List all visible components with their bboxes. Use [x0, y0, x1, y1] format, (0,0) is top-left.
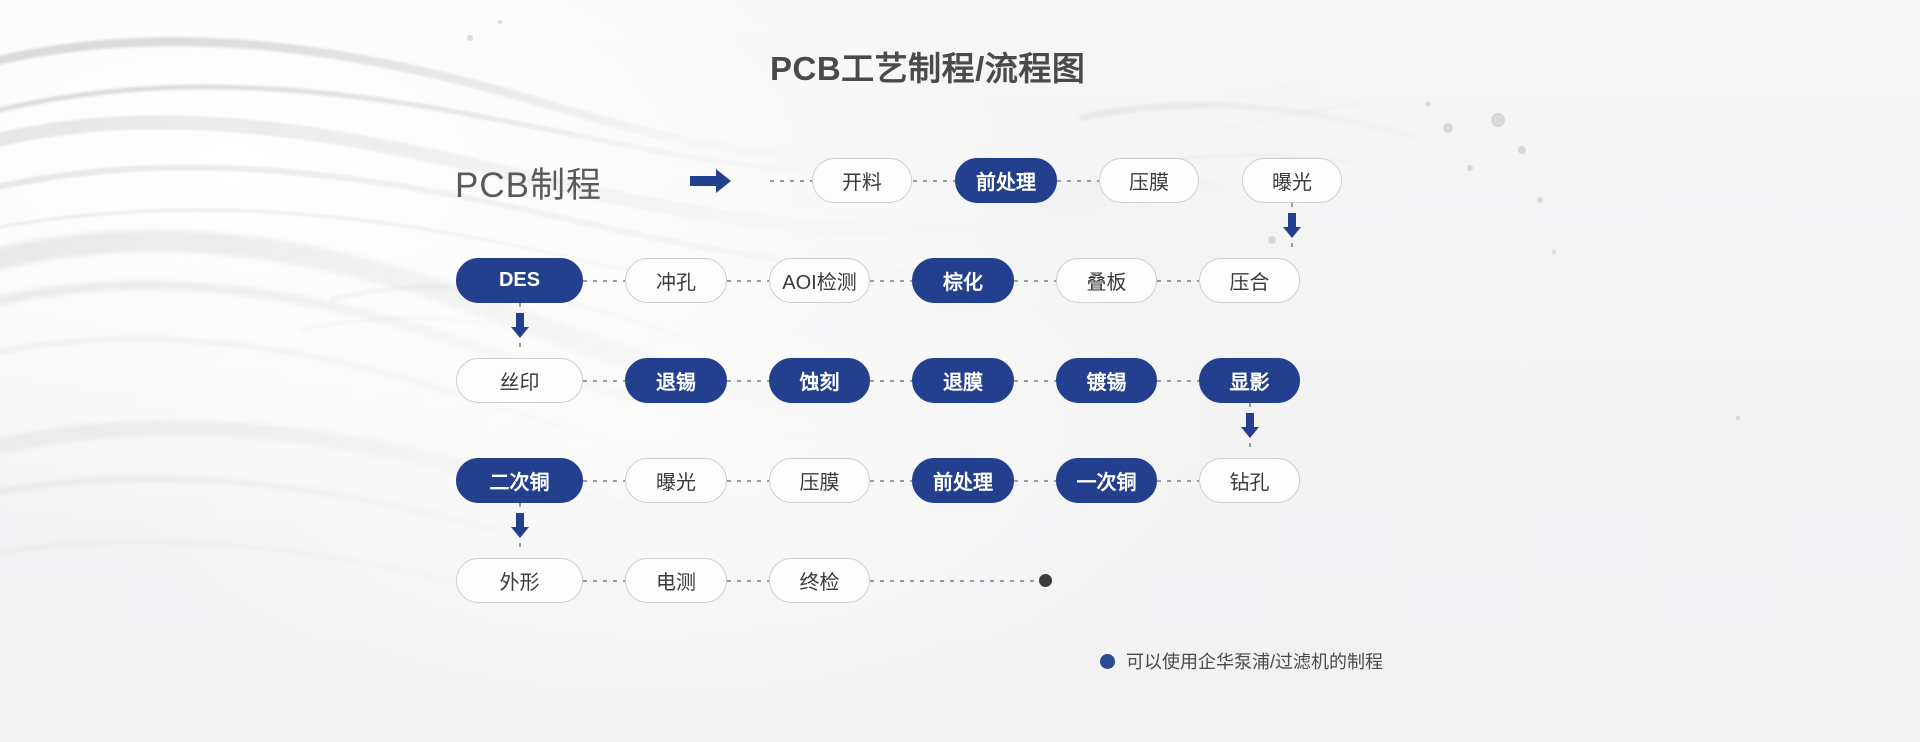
- connector-h: [913, 180, 955, 182]
- connector-h: [727, 480, 769, 482]
- connector-h: [1157, 280, 1199, 282]
- flow-node[interactable]: 叠板: [1056, 258, 1157, 303]
- connector-h: [727, 280, 769, 282]
- arrow-down-icon: [510, 313, 530, 339]
- flow-node[interactable]: 压合: [1199, 258, 1300, 303]
- connector-h: [870, 380, 912, 382]
- connector-h: [727, 380, 769, 382]
- connector-h-terminal: [870, 580, 1040, 582]
- flow-node[interactable]: 曝光: [1242, 158, 1342, 203]
- flow-node[interactable]: 退膜: [912, 358, 1014, 403]
- flow-node[interactable]: 终检: [769, 558, 870, 603]
- connector-h: [1014, 480, 1056, 482]
- connector-h: [770, 180, 812, 182]
- terminal-dot-icon: [1039, 574, 1052, 587]
- flow-node[interactable]: 镀锡: [1056, 358, 1157, 403]
- legend-blue-dot-icon: [1100, 654, 1115, 669]
- flow-node[interactable]: 冲孔: [625, 258, 727, 303]
- arrow-down-icon: [1240, 413, 1260, 439]
- connector-h: [1157, 480, 1199, 482]
- flow-node[interactable]: 压膜: [1099, 158, 1199, 203]
- connector-h: [583, 280, 625, 282]
- flow-node[interactable]: 前处理: [955, 158, 1057, 203]
- flow-node[interactable]: 曝光: [625, 458, 727, 503]
- flow-node[interactable]: 丝印: [456, 358, 583, 403]
- flow-node[interactable]: 钻孔: [1199, 458, 1300, 503]
- flow-node[interactable]: 显影: [1199, 358, 1300, 403]
- flow-node[interactable]: 外形: [456, 558, 583, 603]
- connector-h: [583, 480, 625, 482]
- flow-caption-label: PCB制程: [455, 157, 602, 208]
- connector-h: [1014, 380, 1056, 382]
- legend: 可以使用企华泵浦/过滤机的制程: [1100, 648, 1383, 674]
- flow-node[interactable]: 蚀刻: [769, 358, 870, 403]
- flow-node[interactable]: 开料: [812, 158, 912, 203]
- flow-node[interactable]: 一次铜: [1056, 458, 1157, 503]
- flow-node[interactable]: 退锡: [625, 358, 727, 403]
- flow-node[interactable]: 前处理: [912, 458, 1014, 503]
- flow-node[interactable]: DES: [456, 258, 583, 303]
- flow-node[interactable]: 电测: [625, 558, 727, 603]
- flow-node[interactable]: AOI检测: [769, 258, 870, 303]
- arrow-right-icon: [690, 168, 732, 194]
- connector-h: [583, 380, 625, 382]
- legend-label: 可以使用企华泵浦/过滤机的制程: [1126, 648, 1383, 674]
- connector-h: [1014, 280, 1056, 282]
- flow-node[interactable]: 压膜: [769, 458, 870, 503]
- connector-h: [727, 580, 769, 582]
- arrow-down-icon: [1282, 213, 1302, 239]
- connector-h: [870, 480, 912, 482]
- connector-h: [1057, 180, 1099, 182]
- flow-node[interactable]: 二次铜: [456, 458, 583, 503]
- page-title: PCB工艺制程/流程图: [770, 42, 1085, 90]
- connector-h: [870, 280, 912, 282]
- flow-diagram: PCB工艺制程/流程图 PCB制程 开料 前处理 压膜 曝光 DES 冲孔 AO…: [0, 0, 1920, 742]
- arrow-down-icon: [510, 513, 530, 539]
- flow-node[interactable]: 棕化: [912, 258, 1014, 303]
- connector-h: [1157, 380, 1199, 382]
- connector-h: [583, 580, 625, 582]
